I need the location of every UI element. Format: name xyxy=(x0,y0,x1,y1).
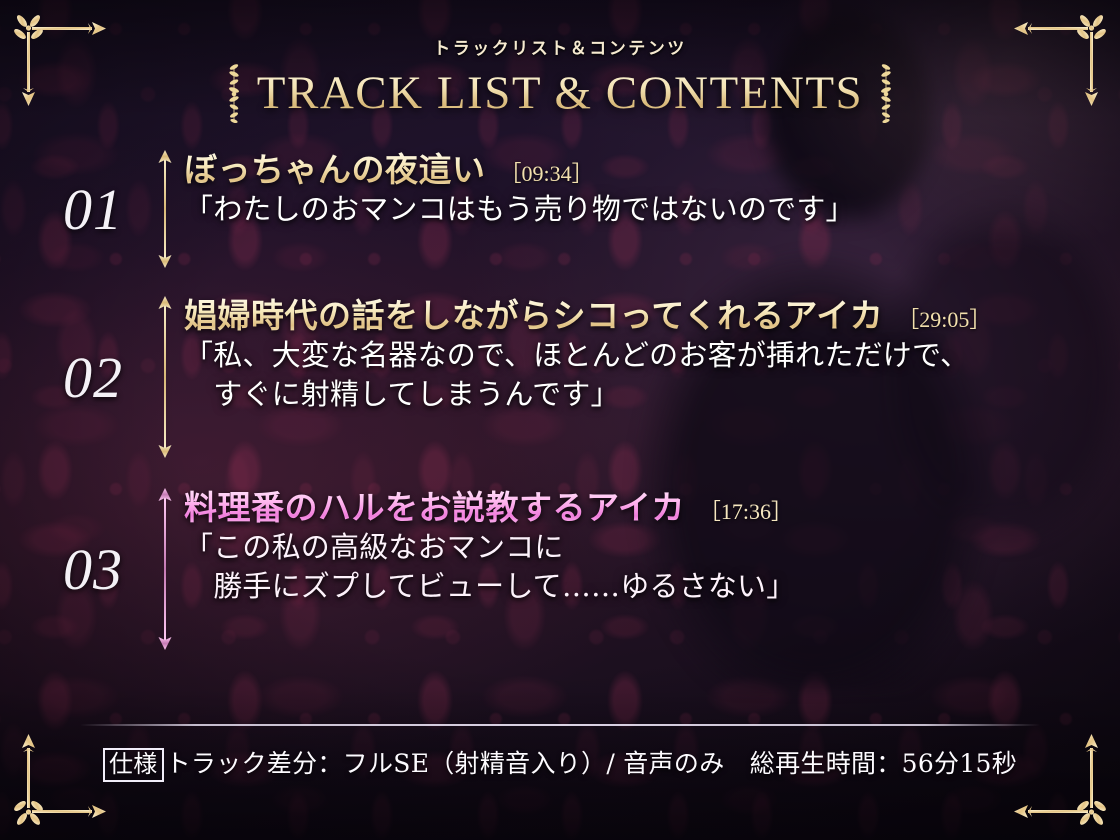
track-row[interactable]: 03 料理 xyxy=(0,488,1120,656)
vine-ornament-left-icon xyxy=(225,61,243,125)
track-quote-line: 「わたしのおマンコはもう売り物ではないのです」 xyxy=(184,190,1080,229)
track-duration: ［29:05］ xyxy=(897,307,991,334)
track-title-row: ぼっちゃんの夜這い ［09:34］ xyxy=(184,150,1080,190)
double-arrow-divider-icon xyxy=(154,296,176,458)
track-list-slide: トラックリスト＆コンテンツ TRACK LIST & CONTENTS xyxy=(0,0,1120,840)
track-row[interactable]: 02 娼婦時代の話をしながらシコってくれるアイカ ［29:05］ 「私、大変な名… xyxy=(0,296,1120,464)
track-divider xyxy=(152,296,178,464)
track-quote-line: 「この私の高級なおマンコに xyxy=(184,528,1080,567)
track-number: 01 xyxy=(34,150,152,274)
track-quote-line: 「私、大変な名器なので、ほとんどのお客が挿れただけで、 xyxy=(184,336,1080,375)
track-number: 03 xyxy=(34,488,152,656)
track-quote-line: 勝手にズプしてビューして……ゆるさない」 xyxy=(184,567,1080,606)
track-divider xyxy=(152,150,178,274)
slide-header: トラックリスト＆コンテンツ TRACK LIST & CONTENTS xyxy=(0,34,1120,125)
double-arrow-divider-icon xyxy=(154,150,176,268)
track-row[interactable]: 01 ぼっちゃんの夜這い ［09:34］ xyxy=(0,150,1120,274)
track-number: 02 xyxy=(34,296,152,464)
track-divider xyxy=(152,488,178,656)
track-content: 娼婦時代の話をしながらシコってくれるアイカ ［29:05］ 「私、大変な名器なの… xyxy=(178,296,1080,464)
title-row: TRACK LIST & CONTENTS xyxy=(0,61,1120,125)
double-arrow-divider-icon xyxy=(154,488,176,650)
track-duration: ［09:34］ xyxy=(500,161,594,188)
slide-footer: 仕様トラック差分：フルSE（射精音入り）/ 音声のみ 総再生時間：56分15秒 xyxy=(0,724,1120,782)
footer-spec-line: 仕様トラック差分：フルSE（射精音入り）/ 音声のみ 総再生時間：56分15秒 xyxy=(0,744,1120,782)
track-title: 料理番のハルをお説教するアイカ xyxy=(184,488,685,528)
track-title: ぼっちゃんの夜這い xyxy=(184,150,486,190)
header-kicker: トラックリスト＆コンテンツ xyxy=(0,34,1120,59)
track-content: 料理番のハルをお説教するアイカ ［17:36］ 「この私の高級なおマンコに 勝手… xyxy=(178,488,1080,656)
footer-divider xyxy=(80,724,1040,726)
spec-badge: 仕様 xyxy=(103,748,164,782)
track-title-row: 料理番のハルをお説教するアイカ ［17:36］ xyxy=(184,488,1080,528)
track-quote-line: すぐに射精してしまうんです」 xyxy=(184,375,1080,414)
track-title: 娼婦時代の話をしながらシコってくれるアイカ xyxy=(184,296,883,336)
track-list: 01 ぼっちゃんの夜這い ［09:34］ xyxy=(0,150,1120,656)
vine-ornament-right-icon xyxy=(877,61,895,125)
page-title: TRACK LIST & CONTENTS xyxy=(257,66,863,120)
spec-text: トラック差分：フルSE（射精音入り）/ 音声のみ 総再生時間：56分15秒 xyxy=(166,749,1017,778)
track-duration: ［17:36］ xyxy=(699,499,793,526)
track-content: ぼっちゃんの夜這い ［09:34］ 「わたしのおマンコはもう売り物ではないのです… xyxy=(178,150,1080,274)
track-title-row: 娼婦時代の話をしながらシコってくれるアイカ ［29:05］ xyxy=(184,296,1080,336)
